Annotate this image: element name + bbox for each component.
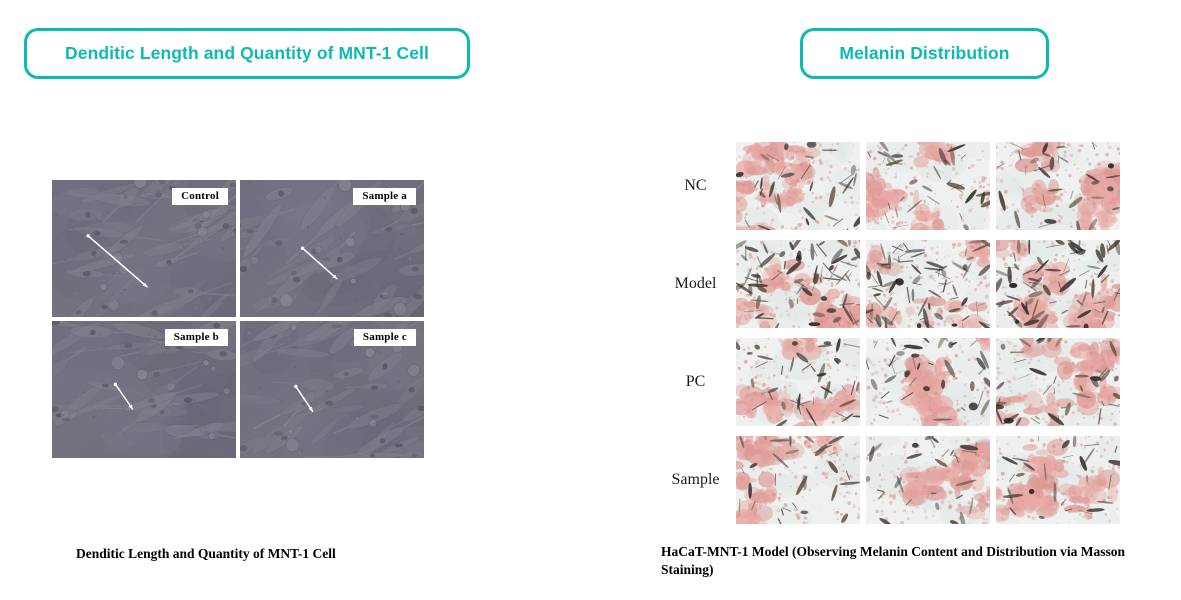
dendritic-title-text: Denditic Length and Quantity of MNT-1 Ce… (65, 43, 429, 64)
melanin-row-model: Model (655, 240, 1120, 328)
masson-tile (736, 338, 860, 426)
melanin-row-tiles (736, 436, 1120, 524)
masson-tile (996, 240, 1120, 328)
melanin-row-label: PC (655, 373, 736, 391)
masson-tile (996, 338, 1120, 426)
masson-tile (866, 240, 990, 328)
masson-tile (996, 142, 1120, 230)
masson-tile (866, 338, 990, 426)
melanin-row-tiles (736, 338, 1120, 426)
masson-tile (736, 240, 860, 328)
dendritic-tile-sample-a: Sample a (240, 180, 424, 317)
dendritic-tile-sample-c: Sample c (240, 321, 424, 458)
melanin-row-label: NC (655, 177, 736, 195)
dendritic-tile-label: Sample b (165, 329, 228, 346)
masson-tile (866, 436, 990, 524)
dendritic-tile-control: Control (52, 180, 236, 317)
dendritic-tile-label: Sample c (354, 329, 416, 346)
melanin-row-pc: PC (655, 338, 1120, 426)
dendritic-image-grid: ControlSample aSample bSample c (52, 180, 424, 466)
melanin-row-label: Sample (655, 471, 736, 489)
melanin-caption: HaCaT-MNT-1 Model (Observing Melanin Con… (661, 543, 1171, 579)
dendritic-tile-sample-b: Sample b (52, 321, 236, 458)
masson-tile (736, 142, 860, 230)
melanin-image-grid: NCModelPCSample (655, 142, 1120, 524)
dendritic-caption: Denditic Length and Quantity of MNT-1 Ce… (76, 545, 476, 563)
melanin-row-sample: Sample (655, 436, 1120, 524)
melanin-row-tiles (736, 240, 1120, 328)
masson-tile (866, 142, 990, 230)
dendritic-tile-label: Control (172, 188, 228, 205)
melanin-title-text: Melanin Distribution (839, 43, 1009, 64)
dendritic-title-badge: Denditic Length and Quantity of MNT-1 Ce… (24, 28, 470, 79)
melanin-title-badge: Melanin Distribution (800, 28, 1049, 79)
melanin-row-tiles (736, 142, 1120, 230)
masson-tile (996, 436, 1120, 524)
dendritic-tile-label: Sample a (353, 188, 416, 205)
melanin-row-nc: NC (655, 142, 1120, 230)
melanin-row-label: Model (655, 275, 736, 293)
masson-tile (736, 436, 860, 524)
